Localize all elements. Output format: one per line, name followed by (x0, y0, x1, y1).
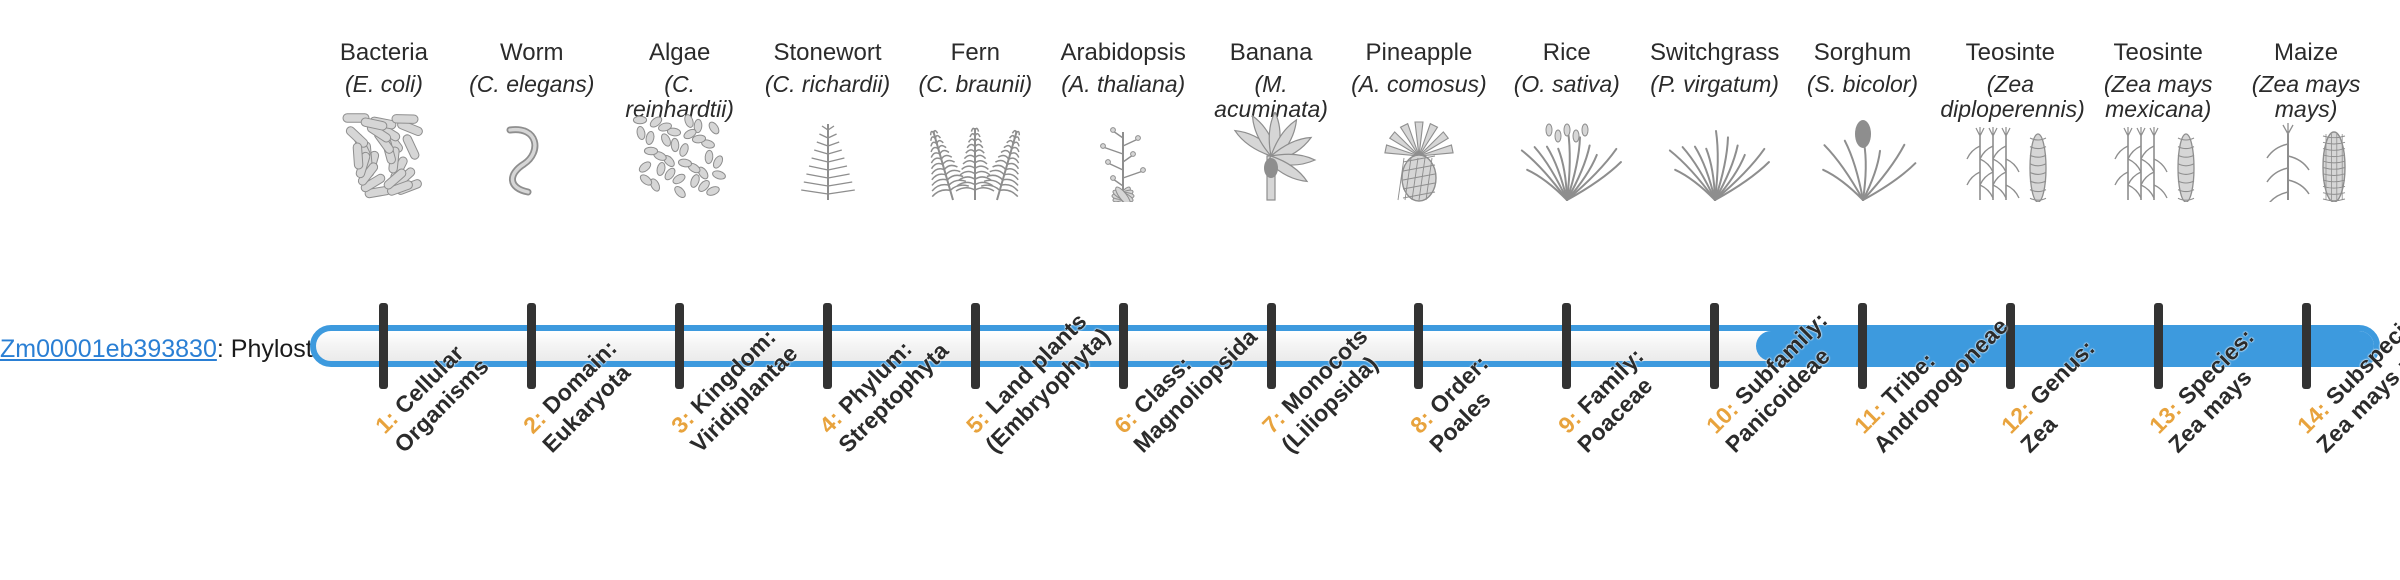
species-common-name: Algae (610, 40, 750, 66)
species-common-name: Maize (2236, 40, 2376, 66)
timeline-tick-1 (379, 303, 388, 389)
species-latin-name: (C. braunii) (905, 72, 1045, 97)
species-common-name: Worm (462, 40, 602, 66)
species-common-name: Teosinte (2088, 40, 2228, 66)
species-latin-name: (S. bicolor) (1793, 72, 1933, 97)
species-common-name: Stonewort (758, 40, 898, 66)
bacteria-icon (314, 112, 454, 202)
species-latin-name: (C. elegans) (462, 72, 602, 97)
fern-icon (905, 112, 1045, 202)
gene-phylostratum-label: Zm00001eb393830: Phylostratum 11 (0, 335, 292, 364)
sorghum-icon (1793, 112, 1933, 202)
pineapple-icon (1349, 112, 1489, 202)
arabidopsis-icon (1053, 112, 1193, 202)
stratum-name: Subspecies: Zea mays mays (2311, 294, 2400, 458)
teosinte-mexicana-icon (2088, 112, 2228, 202)
gene-id-link[interactable]: Zm00001eb393830 (0, 335, 217, 363)
species-latin-name: (P. virgatum) (1645, 72, 1785, 97)
stonewort-icon (758, 112, 898, 202)
species-common-name: Bacteria (314, 40, 454, 66)
maize-icon (2236, 112, 2376, 202)
worm-icon (462, 112, 602, 202)
species-common-name: Sorghum (1793, 40, 1933, 66)
species-common-name: Rice (1497, 40, 1637, 66)
species-common-name: Fern (905, 40, 1045, 66)
switchgrass-icon (1645, 112, 1785, 202)
species-common-name: Switchgrass (1645, 40, 1785, 66)
species-common-name: Pineapple (1349, 40, 1489, 66)
banana-icon (1201, 112, 1341, 202)
species-common-name: Teosinte (1940, 40, 2080, 66)
species-latin-name: (O. sativa) (1497, 72, 1637, 97)
species-latin-name: (E. coli) (314, 72, 454, 97)
species-latin-name: (C. richardii) (758, 72, 898, 97)
algae-icon (610, 112, 750, 202)
rice-icon (1497, 112, 1637, 202)
phylostratum-timeline-figure: Zm00001eb393830: Phylostratum 11 Bacteri… (0, 0, 2400, 580)
teosinte-diplo-icon (1940, 112, 2080, 202)
species-latin-name: (A. thaliana) (1053, 72, 1193, 97)
species-common-name: Banana (1201, 40, 1341, 66)
species-latin-name: (A. comosus) (1349, 72, 1489, 97)
gene-label-separator: : (217, 335, 231, 363)
species-common-name: Arabidopsis (1053, 40, 1193, 66)
